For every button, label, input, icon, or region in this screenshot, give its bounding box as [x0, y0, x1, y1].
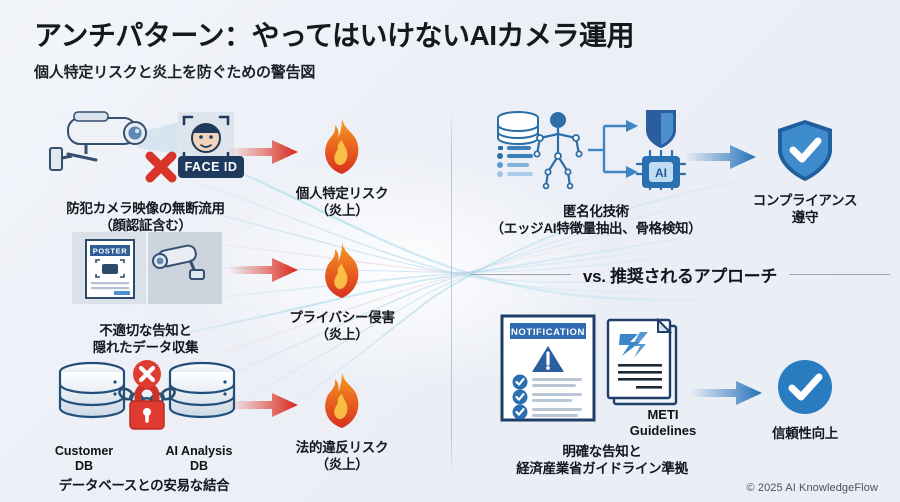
svg-text:NOTIFICATION: NOTIFICATION: [511, 327, 585, 338]
flame-icon-3: [314, 370, 370, 432]
risk-result-1-line2: （炎上）: [262, 202, 422, 219]
compliance-result-line1: コンプライアンス: [730, 192, 880, 209]
recommended-block-bottom: NOTIFICATION: [488, 312, 716, 478]
anonymization-skeleton-shield-ai-chip-icon: AI: [476, 108, 716, 190]
risk-result-3-line1: 法的違反リスク: [262, 439, 422, 456]
meti-doc-label-line2: Guidelines: [608, 423, 718, 439]
header: アンチパターン：やってはいけないAIカメラ運用 個人特定リスクと炎上を防ぐための…: [34, 20, 854, 82]
db-left-label-line1: Customer: [44, 444, 124, 459]
recommended-bottom-caption-line2: 経済産業省ガイドライン準拠: [488, 460, 716, 477]
poster-and-hidden-camera-icon: POSTER: [38, 230, 253, 308]
db-right-label-line2: DB: [154, 459, 244, 474]
recommended-block-top: AI 匿名化技術 （エッジAI特徴量抽出、骨格検知）: [476, 108, 716, 238]
antipattern-3-caption-line1: データベースとの安易な結合: [30, 477, 258, 494]
recommended-bottom-caption-line1: 明確な告知と: [488, 443, 716, 460]
recommended-top-caption-line2: （エッジAI特徴量抽出、骨格検知）: [476, 220, 716, 237]
svg-text:AI: AI: [655, 166, 667, 180]
divider-line-left: [470, 274, 571, 275]
risk-result-1-line1: 個人特定リスク: [262, 185, 422, 202]
flame-icon-1: [314, 116, 370, 178]
trust-result: 信頼性向上: [730, 358, 880, 442]
risk-result-1: 個人特定リスク （炎上）: [262, 116, 422, 220]
page-subtitle: 個人特定リスクと炎上を防ぐための警告図: [34, 61, 854, 82]
antipattern-row-2: POSTER 不適切な告知と 隠れたデータ収集: [38, 230, 253, 357]
db-right-label-line1: AI Analysis: [154, 444, 244, 459]
divider-label: vs. 推奨されるアプローチ: [583, 262, 777, 287]
infographic-canvas: アンチパターン：やってはいけないAIカメラ運用 個人特定リスクと炎上を防ぐための…: [0, 0, 900, 502]
divider-line-right: [789, 274, 890, 275]
risk-result-3: 法的違反リスク （炎上）: [262, 370, 422, 474]
compliance-result: コンプライアンス 遵守: [730, 118, 880, 227]
flame-icon-2: [314, 240, 370, 302]
risk-result-2: プライバシー侵害 （炎上）: [262, 240, 422, 344]
chained-databases-lock-icon: [30, 358, 258, 438]
antipattern-row-1: FACE ID 防犯カメラ映像の無断流用 （顔認証含む）: [38, 108, 253, 235]
shield-check-icon: [774, 118, 836, 184]
recommended-top-caption-line1: 匿名化技術: [476, 203, 716, 220]
risk-result-3-line2: （炎上）: [262, 456, 422, 473]
antipattern-row-3: Customer DB AI Analysis DB データベースとの安易な結合: [30, 358, 258, 494]
db-left-label-line2: DB: [44, 459, 124, 474]
risk-result-2-line1: プライバシー侵害: [262, 309, 422, 326]
copyright-footer: © 2025 AI KnowledgeFlow: [747, 482, 879, 494]
security-camera-face-recognition-icon: FACE ID: [38, 108, 253, 186]
antipattern-2-caption-line2: 隠れたデータ収集: [38, 339, 253, 356]
svg-text:POSTER: POSTER: [93, 247, 127, 256]
risk-result-2-line2: （炎上）: [262, 326, 422, 343]
antipattern-1-caption-line1: 防犯カメラ映像の無断流用: [38, 200, 253, 217]
page-title: アンチパターン：やってはいけないAIカメラ運用: [34, 20, 854, 52]
antipattern-2-caption-line1: 不適切な告知と: [38, 322, 253, 339]
section-divider-recommended: vs. 推奨されるアプローチ: [470, 262, 890, 287]
trust-result-line1: 信頼性向上: [730, 425, 880, 442]
compliance-result-line2: 遵守: [730, 209, 880, 226]
column-divider: [451, 108, 452, 480]
circle-check-icon: [776, 358, 834, 416]
